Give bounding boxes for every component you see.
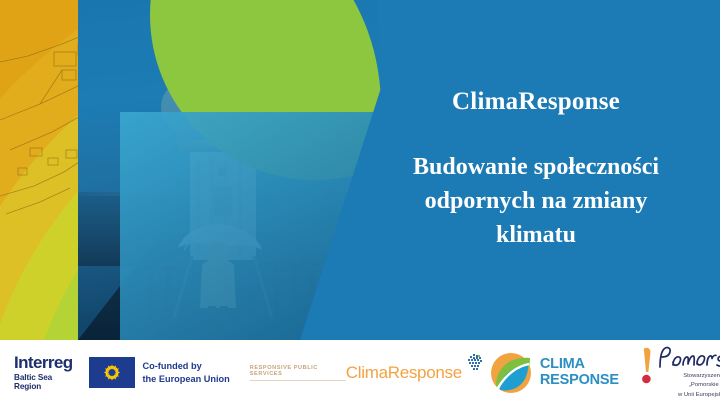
clima-response-wordmark: CLIMA RESPONSE (540, 357, 619, 388)
logo-climaresponse-project: RESPONSIVE PUBLIC SERVICES ClimaResponse (250, 362, 462, 383)
eu-funding-line-2: the European Union (143, 373, 230, 385)
footer-logo-bar: Interreg Baltic Sea Region (0, 340, 720, 405)
pomorskie-subtitle: Stowarzyszenie „Pomorskie w Unii Europej… (656, 372, 720, 399)
exclamation-mark-icon (641, 346, 654, 386)
slide-heading-line-3: klimatu (413, 218, 659, 252)
logo-pomorskie: Stowarzyszenie „Pomorskie w Unii Europej… (641, 345, 720, 399)
presentation-slide: ClimaResponse Budowanie społeczności odp… (0, 0, 720, 405)
logo-clima-response: CLIMA RESPONSE (490, 352, 619, 394)
eu-funding-text: Co-funded by the European Union (143, 360, 230, 385)
slide-heading-line-2: odpornych na zmiany (413, 184, 659, 218)
slide-heading: Budowanie społeczności odpornych na zmia… (401, 150, 671, 252)
pomorskie-text-block: Stowarzyszenie „Pomorskie w Unii Europej… (656, 345, 720, 399)
logo-european-union: Co-funded by the European Union (89, 357, 230, 388)
project-title: ClimaResponse (452, 88, 620, 116)
climaresponse-eyebrow: RESPONSIVE PUBLIC SERVICES (250, 365, 346, 381)
interreg-subtitle: Baltic Sea Region (14, 374, 73, 390)
clima-line-1: CLIMA (540, 357, 619, 373)
interreg-wordmark: Interreg (14, 354, 73, 371)
climaresponse-wordmark: ClimaResponse (346, 364, 462, 383)
pomorskie-script-wordmark (656, 345, 720, 371)
eu-stars-icon (89, 357, 135, 388)
eu-flag-icon (89, 357, 135, 388)
slide-heading-line-1: Budowanie społeczności (413, 150, 659, 184)
pomorskie-sub-line-1: Stowarzyszenie (656, 372, 720, 381)
hero-banner: ClimaResponse Budowanie społeczności odp… (0, 0, 720, 340)
slide-title-block: ClimaResponse Budowanie społeczności odp… (352, 0, 720, 340)
clima-line-2: RESPONSE (540, 373, 619, 389)
clima-leaf-icon (490, 352, 532, 394)
logo-interreg: Interreg Baltic Sea Region (14, 354, 73, 390)
eu-funding-line-1: Co-funded by (143, 360, 230, 372)
pomorskie-sub-line-2: „Pomorskie (656, 381, 720, 390)
dot-cluster-icon (466, 354, 484, 377)
pomorskie-sub-line-3: w Unii Europejskiej" (656, 391, 720, 400)
